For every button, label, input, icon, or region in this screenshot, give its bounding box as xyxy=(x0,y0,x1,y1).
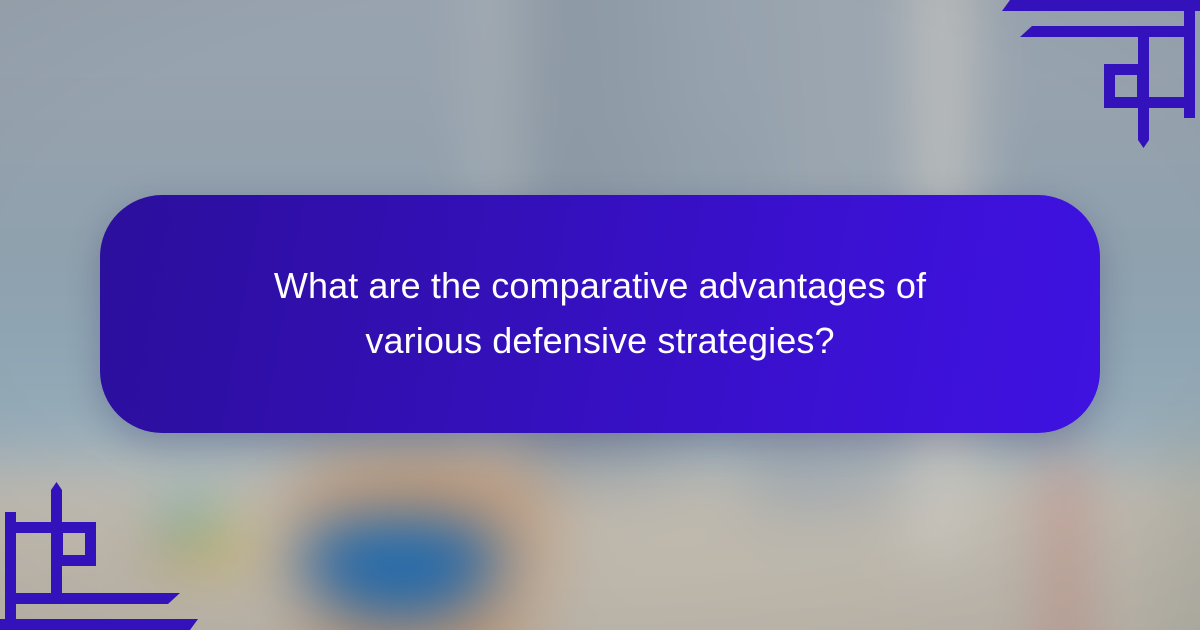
question-text: What are the comparative advantages of v… xyxy=(220,259,980,368)
question-card: What are the comparative advantages of v… xyxy=(100,195,1100,433)
social-card-canvas: What are the comparative advantages of v… xyxy=(0,0,1200,630)
